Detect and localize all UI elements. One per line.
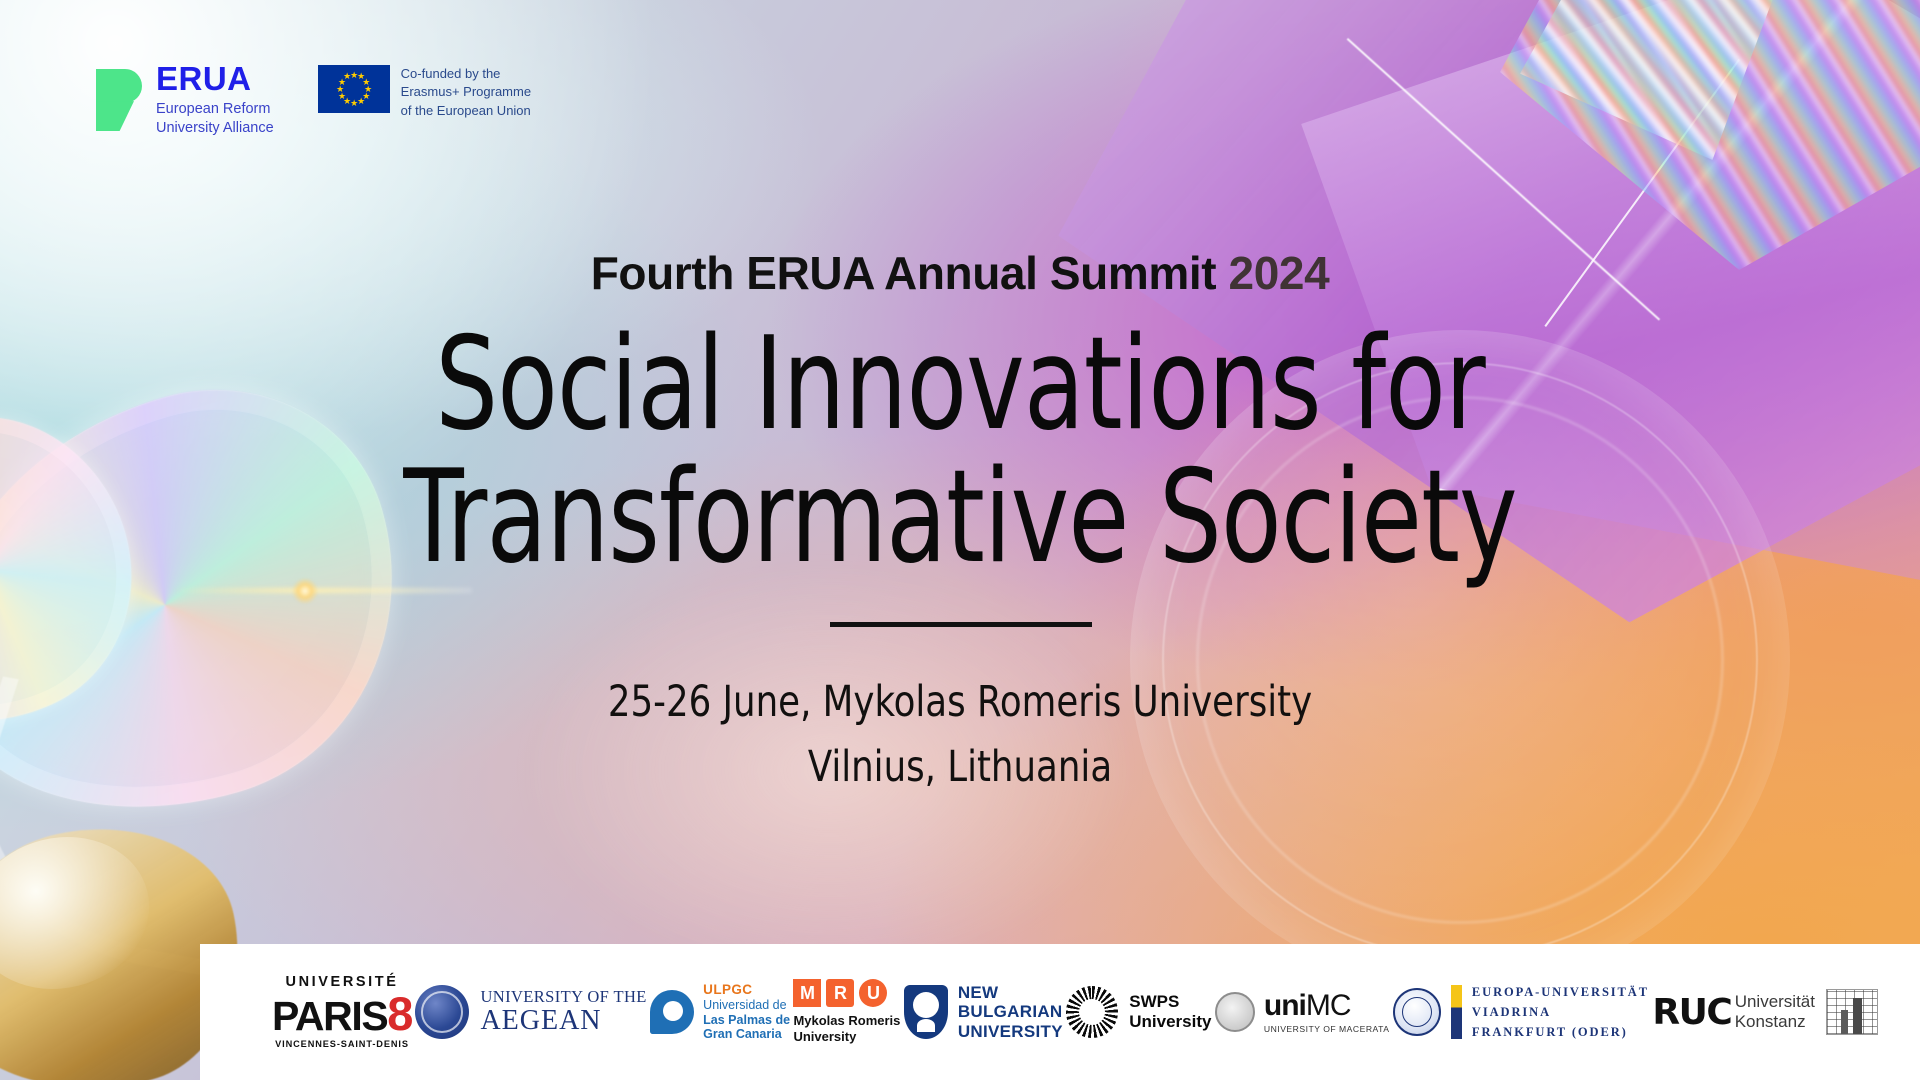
eu-star-icon: ★ [336,86,343,93]
headline-line-2: Transformative Society [134,451,1785,584]
partner-logo-aegean: UNIVERSITY OF THE AEGEAN [415,985,646,1039]
ulpgc-line2: Universidad de [703,998,790,1013]
summit-poster: ERUA European Reform University Alliance… [0,0,1920,1080]
erua-logo-text: ERUA European Reform University Alliance [156,62,274,138]
erua-subtitle-line2: University Alliance [156,119,274,138]
ulpgc-acronym: ULPGC [703,982,790,998]
unimc-mc: MC [1306,989,1351,1022]
event-eyebrow: Fourth ERUA Annual Summit 2024 [0,246,1920,300]
viadrina-line3: FRANKFURT (ODER) [1472,1022,1649,1042]
ulpgc-line3: Las Palmas de [703,1013,790,1028]
partner-logo-bar: UNIVERSITÉ PARIS8 VINCENNES-SAINT-DENIS … [200,944,1920,1080]
eu-star-icon: ★ [350,100,357,107]
ulpgc-mark-icon [650,990,694,1034]
event-city: Vilnius, Lithuania [77,735,1843,800]
swps-sunburst-icon [1066,986,1118,1038]
event-date-venue: 25-26 June, Mykolas Romeris University [77,670,1843,735]
konstanz-grid-icon [1826,989,1878,1035]
partner-logo-ulpgc: ULPGC Universidad de Las Palmas de Gran … [650,982,790,1042]
nbu-line3: UNIVERSITY [958,1022,1063,1041]
eu-funding-line1: Co-funded by the [401,65,531,83]
headline-line-1: Social Innovations for [134,318,1785,451]
eu-flag-icon: ★★★★★★★★★★★★ [318,65,390,113]
event-eyebrow-text: Fourth ERUA Annual Summit [591,247,1216,299]
mru-letter-u: U [859,979,887,1007]
mru-line1: Mykolas Romeris [793,1013,900,1029]
eu-funding-logo: ★★★★★★★★★★★★ Co-funded by the Erasmus+ P… [318,62,531,120]
mru-letter-m: M [793,979,821,1007]
partner-logo-ruc: RUC [1652,992,1731,1033]
divider-rule [830,622,1092,627]
viadrina-line2: VIADRINA [1472,1002,1649,1022]
unimc-line2: UNIVERSITY OF MACERATA [1264,1025,1390,1034]
eu-star-icon: ★ [357,98,364,105]
aegean-seal-icon [415,985,469,1039]
erua-wordmark: ERUA [156,62,274,95]
erua-logo: ERUA European Reform University Alliance [96,62,274,138]
unimc-uni: uni [1264,989,1306,1022]
swps-line1: SWPS [1129,992,1211,1012]
partner-logo-paris8: UNIVERSITÉ PARIS8 VINCENNES-SAINT-DENIS [272,975,412,1050]
konstanz-line1: Universität [1735,992,1815,1012]
partner-logo-unimc: uniMC UNIVERSITY OF MACERATA [1215,991,1390,1034]
partner-logo-nbu: NEW BULGARIAN UNIVERSITY [904,983,1063,1041]
eu-funding-line2: Erasmus+ Programme [401,83,531,101]
nbu-line1: NEW [958,983,1063,1002]
erua-r-mark-icon [96,69,142,131]
erua-subtitle-line1: European Reform [156,100,274,119]
paris8-line3: VINCENNES-SAINT-DENIS [272,1040,412,1049]
viadrina-color-bar-icon [1451,985,1462,1039]
nbu-line2: BULGARIAN [958,1002,1063,1021]
mru-line2: University [793,1029,900,1045]
mru-letter-marks: M R U [793,979,900,1007]
partner-logo-viadrina: EUROPA-UNIVERSITÄT VIADRINA FRANKFURT (O… [1393,982,1649,1043]
paris8-wordmark: PARIS [272,993,387,1039]
aegean-line1: UNIVERSITY OF THE [480,989,646,1006]
eu-star-icon: ★ [350,72,357,79]
header-logos: ERUA European Reform University Alliance… [96,62,531,138]
partner-logo-swps: SWPS University [1066,986,1211,1038]
viadrina-line1: EUROPA-UNIVERSITÄT [1472,982,1649,1002]
aegean-line2: AEGEAN [480,1007,646,1035]
event-year: 2024 [1229,247,1330,299]
unimc-seal-icon [1215,992,1255,1032]
swps-line2: University [1129,1012,1211,1032]
ruc-wordmark: RUC [1652,992,1731,1033]
partner-logo-konstanz: Universität Konstanz [1735,989,1878,1035]
ulpgc-line4: Gran Canaria [703,1027,790,1042]
nbu-mark-icon [904,985,948,1039]
partner-logo-mru: M R U Mykolas Romeris University [793,979,900,1044]
konstanz-line2: Konstanz [1735,1012,1815,1032]
eu-star-icon: ★ [338,93,345,100]
eu-funding-text: Co-funded by the Erasmus+ Programme of t… [401,65,531,120]
event-details: 25-26 June, Mykolas Romeris University V… [77,670,1843,799]
eu-funding-line3: of the European Union [401,102,531,120]
paris8-number: 8 [387,987,412,1040]
mru-letter-r: R [826,979,854,1007]
eu-star-icon: ★ [343,73,350,80]
viadrina-seal-icon [1393,988,1441,1036]
page-title: Social Innovations for Transformative So… [134,318,1785,584]
